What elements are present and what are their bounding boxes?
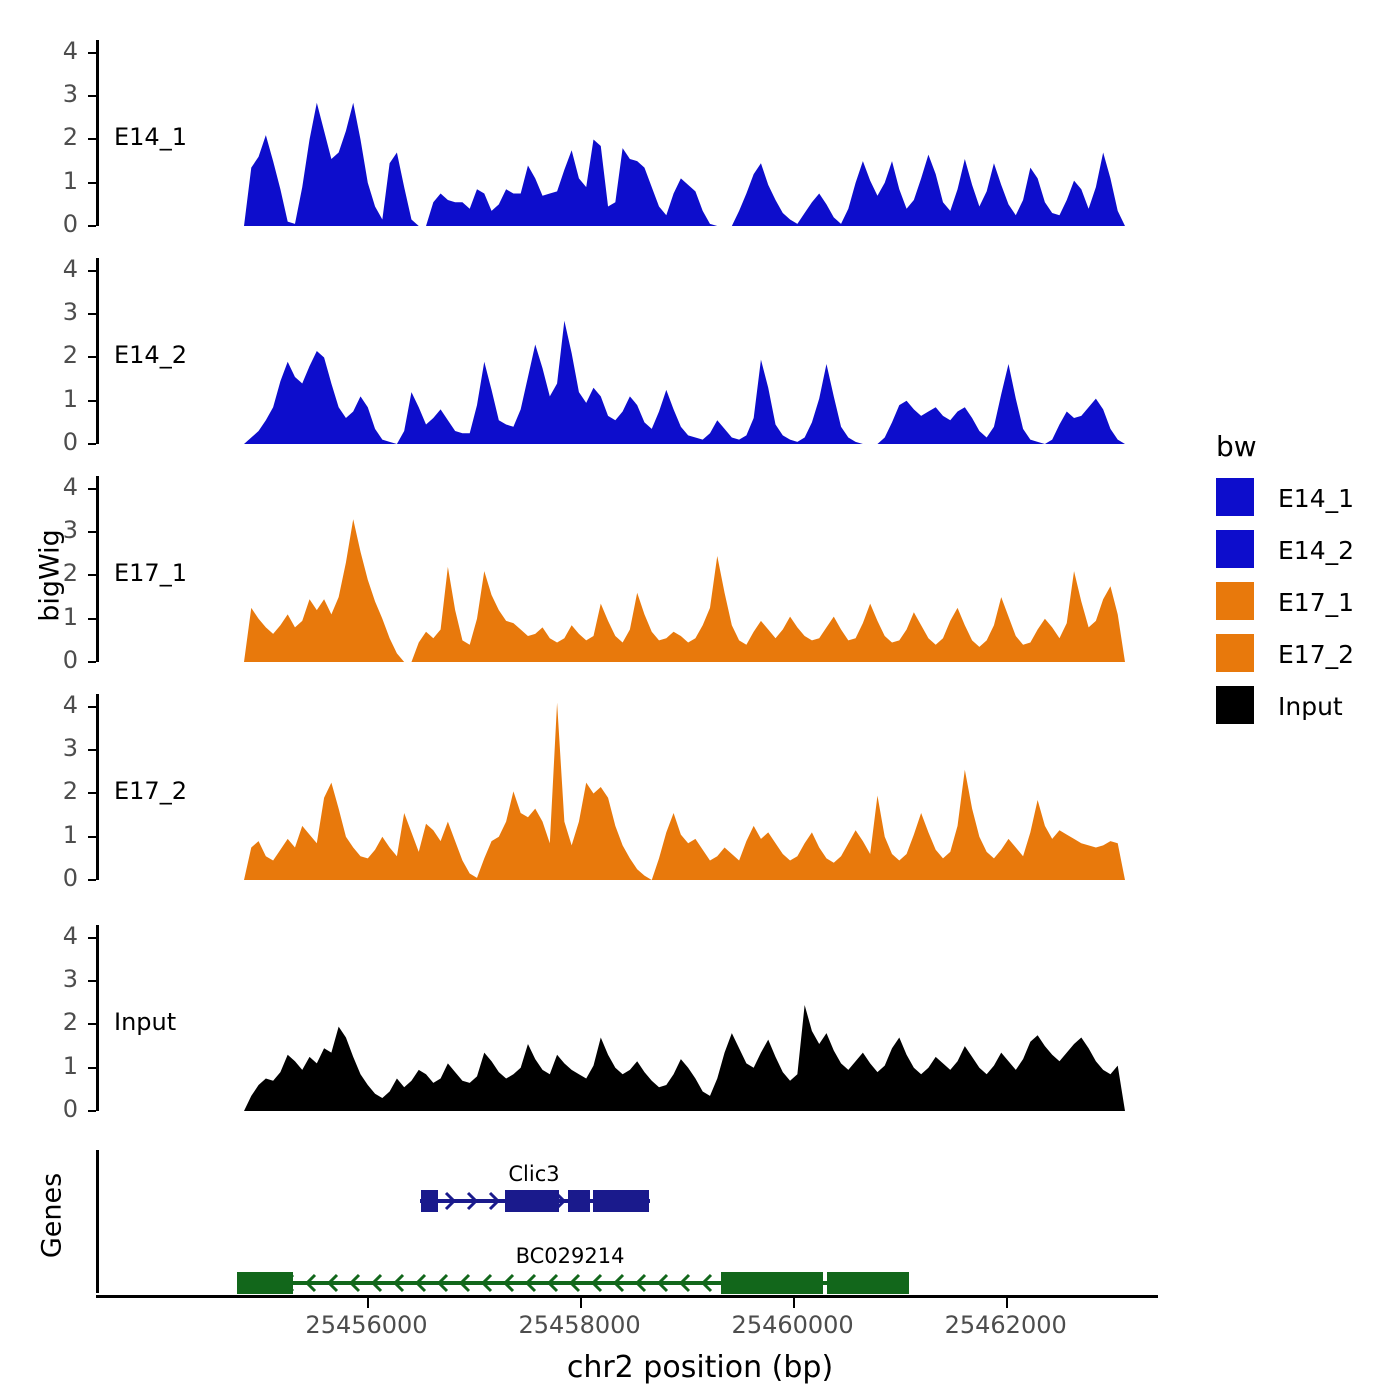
y-tick — [88, 225, 96, 227]
y-tick-label: 1 — [26, 821, 78, 849]
figure-root: bigWig Genes 01234E14_101234E14_201234E1… — [0, 0, 1400, 1400]
x-tick — [1006, 1298, 1008, 1308]
y-tick — [88, 879, 96, 881]
y-tick-label: 3 — [26, 516, 78, 544]
gene-model-bc029214[interactable] — [237, 1268, 909, 1298]
legend-swatch-e17_2[interactable] — [1216, 634, 1254, 672]
y-tick — [88, 138, 96, 140]
track-panel-e17_2: 01234E17_2 — [0, 694, 1400, 880]
legend-title: bw — [1216, 430, 1257, 463]
y-tick-label: 0 — [26, 210, 78, 238]
track-panel-e14_1: 01234E14_1 — [0, 40, 1400, 226]
genes-axis-line — [96, 1150, 99, 1293]
y-tick — [88, 1110, 96, 1112]
x-tick — [367, 1298, 369, 1308]
y-tick-label: 2 — [26, 341, 78, 369]
track-area-input — [244, 925, 1125, 1111]
track-area-e17_1 — [244, 476, 1125, 662]
track-label-e14_2: E14_2 — [114, 341, 187, 369]
track-label-input: Input — [114, 1008, 176, 1036]
x-axis-title: chr2 position (bp) — [0, 1350, 1400, 1385]
y-tick — [88, 443, 96, 445]
y-tick-label: 4 — [26, 922, 78, 950]
y-tick-label: 4 — [26, 473, 78, 501]
legend-swatch-e14_2[interactable] — [1216, 530, 1254, 568]
legend-swatch-input[interactable] — [1216, 686, 1254, 724]
y-tick-label: 2 — [26, 123, 78, 151]
y-tick-label: 4 — [26, 691, 78, 719]
y-tick-label: 1 — [26, 603, 78, 631]
y-tick-label: 3 — [26, 965, 78, 993]
x-tick-label: 25458000 — [490, 1311, 670, 1339]
y-tick-label: 0 — [26, 1095, 78, 1123]
y-tick — [88, 356, 96, 358]
y-tick-label: 3 — [26, 298, 78, 326]
y-tick-label: 4 — [26, 255, 78, 283]
x-axis-line — [96, 1295, 1158, 1298]
y-tick-label: 0 — [26, 428, 78, 456]
y-tick — [88, 836, 96, 838]
track-label-e17_1: E17_1 — [114, 559, 187, 587]
y-tick-label: 2 — [26, 1008, 78, 1036]
track-panel-input: 01234Input — [0, 925, 1400, 1111]
y-tick — [88, 706, 96, 708]
y-tick-label: 4 — [26, 37, 78, 65]
x-tick-label: 25456000 — [277, 1311, 457, 1339]
y-axis-line — [96, 476, 99, 662]
gene-label-bc029214: BC029214 — [460, 1244, 680, 1268]
y-tick — [88, 52, 96, 54]
y-tick — [88, 488, 96, 490]
y-tick-label: 2 — [26, 559, 78, 587]
y-tick — [88, 531, 96, 533]
legend-label-e14_1: E14_1 — [1278, 484, 1354, 513]
legend-label-e17_2: E17_2 — [1278, 640, 1354, 669]
y-axis-line — [96, 258, 99, 444]
y-axis-line — [96, 694, 99, 880]
track-area-e17_2 — [244, 694, 1125, 880]
y-tick — [88, 937, 96, 939]
y-tick-label: 3 — [26, 80, 78, 108]
track-area-e14_2 — [244, 258, 1125, 444]
gene-label-clic3: Clic3 — [424, 1162, 644, 1186]
x-tick-label: 25462000 — [916, 1311, 1096, 1339]
y-tick-label: 0 — [26, 646, 78, 674]
y-tick-label: 1 — [26, 385, 78, 413]
y-tick — [88, 270, 96, 272]
track-label-e17_2: E17_2 — [114, 777, 187, 805]
legend-label-e14_2: E14_2 — [1278, 536, 1354, 565]
x-tick — [580, 1298, 582, 1308]
y-tick — [88, 618, 96, 620]
y-axis-line — [96, 925, 99, 1111]
track-area-e14_1 — [244, 40, 1125, 226]
y-tick — [88, 182, 96, 184]
y-tick-label: 1 — [26, 1052, 78, 1080]
y-tick — [88, 1023, 96, 1025]
y-tick — [88, 574, 96, 576]
legend-label-e17_1: E17_1 — [1278, 588, 1354, 617]
y-tick-label: 2 — [26, 777, 78, 805]
x-tick — [793, 1298, 795, 1308]
genes-panel: Clic3BC029214 — [0, 1150, 1400, 1295]
track-panel-e17_1: 01234E17_1 — [0, 476, 1400, 662]
x-tick-label: 25460000 — [703, 1311, 883, 1339]
y-tick-label: 1 — [26, 167, 78, 195]
legend-swatch-e17_1[interactable] — [1216, 582, 1254, 620]
y-tick — [88, 95, 96, 97]
y-axis-line — [96, 40, 99, 226]
y-tick — [88, 400, 96, 402]
y-tick — [88, 1067, 96, 1069]
y-tick — [88, 749, 96, 751]
gene-model-clic3[interactable] — [420, 1186, 650, 1216]
y-tick — [88, 980, 96, 982]
legend-swatch-e14_1[interactable] — [1216, 478, 1254, 516]
y-tick-label: 0 — [26, 864, 78, 892]
y-tick-label: 3 — [26, 734, 78, 762]
x-axis: 25456000254580002546000025462000 chr2 po… — [0, 1295, 1400, 1400]
y-tick — [88, 792, 96, 794]
track-panel-e14_2: 01234E14_2 — [0, 258, 1400, 444]
track-label-e14_1: E14_1 — [114, 123, 187, 151]
legend: bw E14_1E14_2E17_1E17_2Input — [1210, 430, 1400, 690]
legend-label-input: Input — [1278, 692, 1343, 721]
y-tick — [88, 661, 96, 663]
y-tick — [88, 313, 96, 315]
